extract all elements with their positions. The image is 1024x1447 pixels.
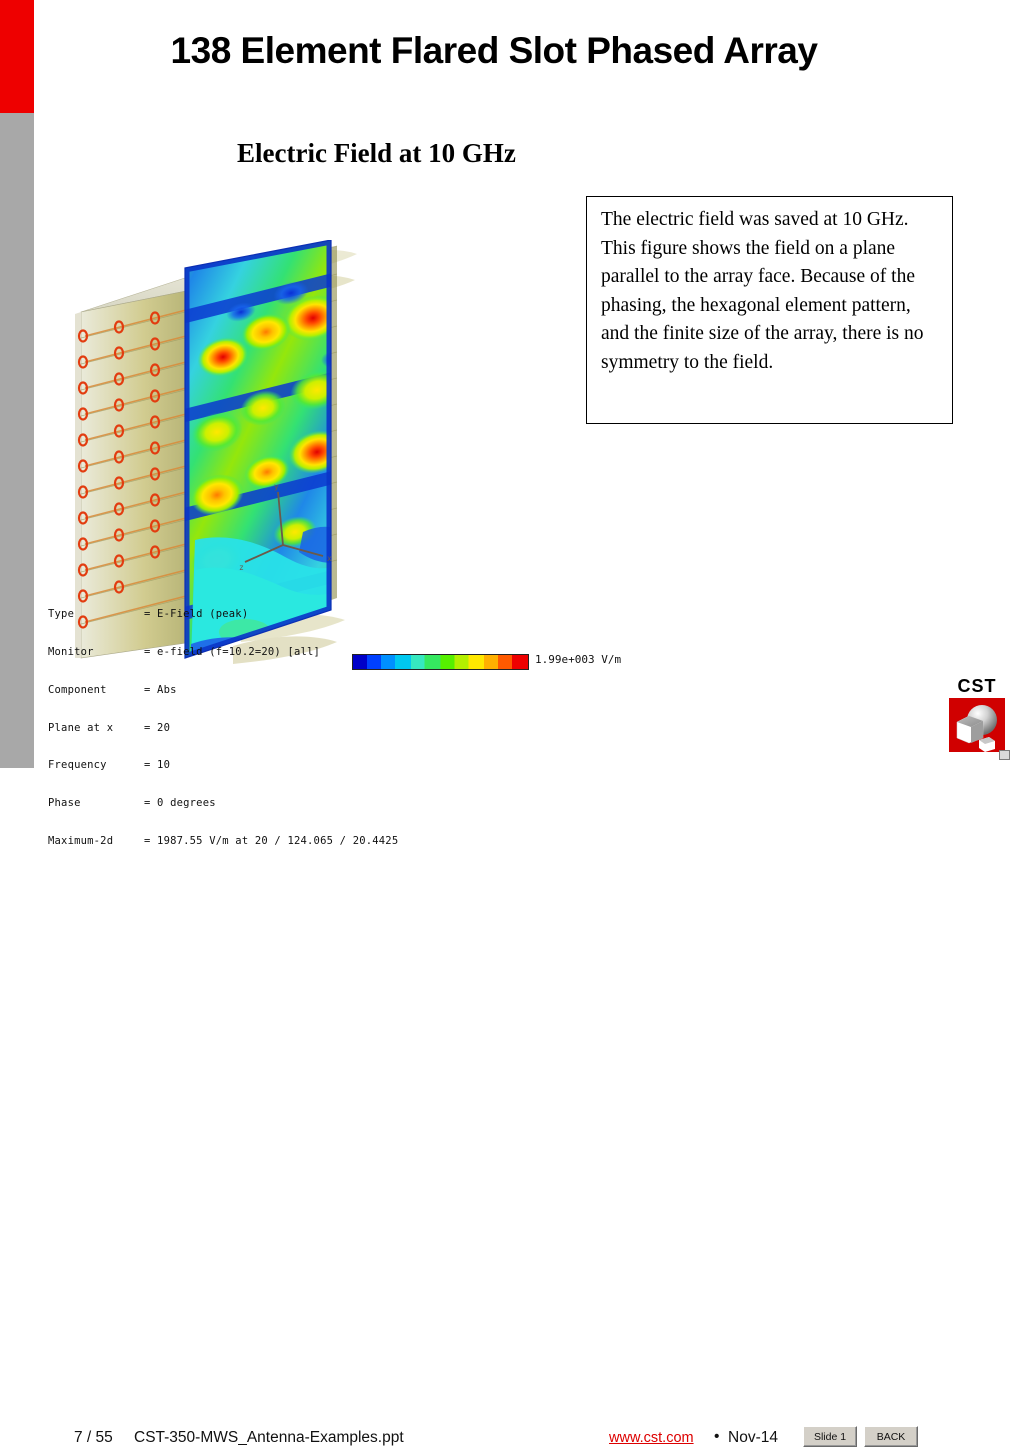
colorbar-max-label: 1.99e+003 V/m: [535, 653, 621, 666]
page-title: 138 Element Flared Slot Phased Array: [34, 30, 954, 72]
monitor-info-row: Maximum-2d= 1987.55 V/m at 20 / 124.065 …: [48, 835, 398, 848]
monitor-info-row: Component= Abs: [48, 684, 398, 697]
monitor-info-label: Maximum-2d: [48, 835, 144, 848]
svg-text:y: y: [274, 482, 279, 491]
monitor-info-row: Phase= 0 degrees: [48, 797, 398, 810]
cst-logo-mark: [949, 698, 1005, 752]
accent-bar-gray: [0, 113, 34, 768]
monitor-info-value: = 1987.55 V/m at 20 / 124.065 / 20.4425: [144, 835, 398, 847]
accent-bar-red: [0, 0, 34, 113]
corner-artifact: [999, 750, 1010, 760]
monitor-info-label: Type: [48, 608, 144, 621]
monitor-info-value: = Abs: [144, 684, 177, 696]
cst-logo-text: CST: [947, 676, 1007, 697]
footer-bullet-icon: •: [714, 1428, 719, 1446]
footer-filename: CST-350-MWS_Antenna-Examples.ppt: [134, 1429, 404, 1447]
slide-canvas: 138 Element Flared Slot Phased Array Ele…: [0, 0, 1024, 768]
monitor-info-value: = E-Field (peak): [144, 608, 248, 620]
colorbar-gradient: [352, 654, 529, 670]
monitor-info-label: Component: [48, 684, 144, 697]
slide-1-button[interactable]: Slide 1: [803, 1426, 857, 1447]
monitor-info-row: Type= E-Field (peak): [48, 608, 398, 621]
monitor-info-label: Monitor: [48, 646, 144, 659]
footer-page-number: 7 / 55: [74, 1429, 113, 1447]
field-colorbar: 1.99e+003 V/m: [352, 654, 529, 670]
page-subtitle: Electric Field at 10 GHz: [237, 138, 516, 169]
svg-text:x: x: [327, 554, 332, 563]
cst-logo-shapes: [949, 698, 1005, 752]
cst-logo: CST: [947, 676, 1007, 752]
svg-text:z: z: [239, 563, 244, 572]
back-button[interactable]: BACK: [864, 1426, 918, 1447]
monitor-info-label: Phase: [48, 797, 144, 810]
monitor-info-value: = e-field (f=10.2=20) [all]: [144, 646, 320, 658]
slide-footer: 7 / 55 CST-350-MWS_Antenna-Examples.ppt …: [0, 698, 1024, 768]
footer-website-link[interactable]: www.cst.com: [609, 1430, 694, 1446]
footer-date: Nov-14: [728, 1429, 778, 1447]
monitor-info-value: = 0 degrees: [144, 797, 216, 809]
monitor-info-row: Monitor= e-field (f=10.2=20) [all]: [48, 646, 398, 659]
